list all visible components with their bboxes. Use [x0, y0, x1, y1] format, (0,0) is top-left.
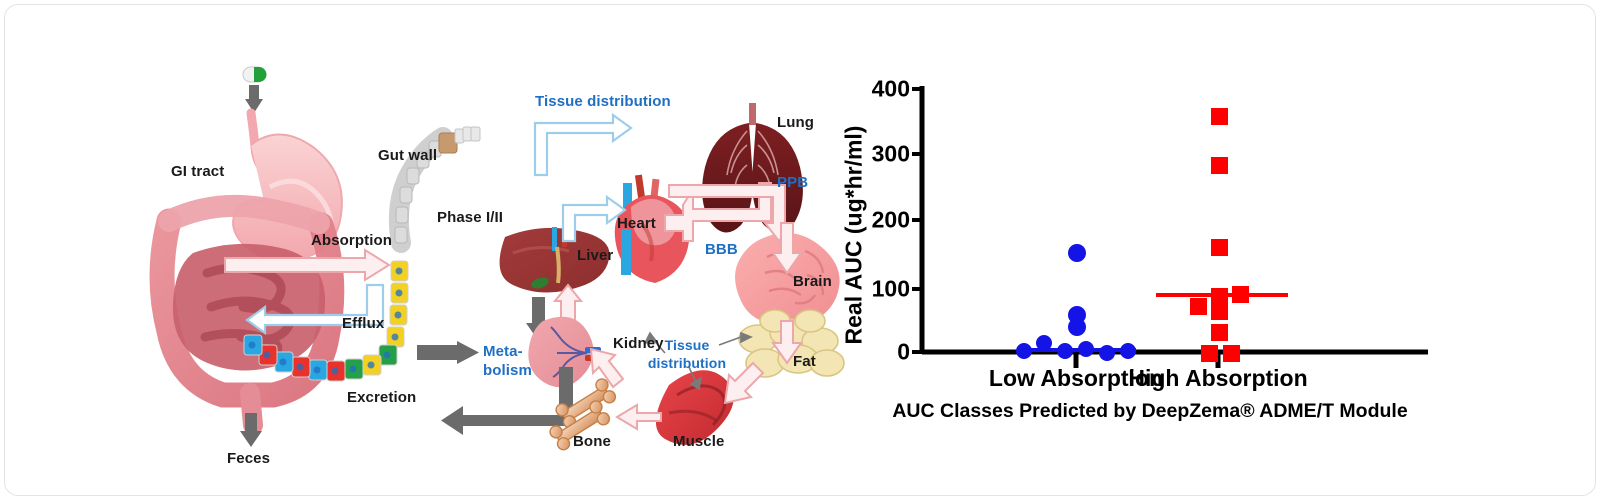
label-lung: Lung — [777, 114, 814, 131]
figure-card: GI tract Gut wall Absorption Efflux Excr… — [4, 4, 1596, 496]
arrow-metabolism — [417, 341, 479, 364]
adme-artwork — [65, 15, 865, 495]
arrow-ingestion — [245, 85, 263, 113]
label-metabolism-line1: Meta- — [483, 343, 523, 360]
label-gut-wall: Gut wall — [378, 147, 437, 164]
label-absorption: Absorption — [311, 232, 392, 249]
data-points-high — [1190, 108, 1249, 362]
label-tissue-distribution-line2: distribution — [648, 355, 726, 371]
data-points-low — [1016, 244, 1136, 361]
label-kidney: Kidney — [613, 335, 664, 352]
label-tissue-distribution-line1: Tissue — [665, 337, 710, 353]
label-fat: Fat — [793, 353, 816, 370]
label-metabolism-line2: bolism — [483, 362, 532, 379]
series-high-absorption — [1156, 108, 1288, 362]
label-brain: Brain — [793, 273, 832, 290]
label-gi-tract: GI tract — [171, 163, 224, 180]
label-excretion: Excretion — [347, 389, 416, 406]
arrow-fat-to-muscle — [725, 363, 763, 403]
label-bone: Bone — [573, 433, 611, 450]
x-axis-title: AUC Classes Predicted by DeepZema® ADME/… — [892, 400, 1407, 423]
label-heart: Heart — [617, 215, 656, 232]
arrow-tissue-distribution-lung — [535, 115, 631, 175]
arrow-muscle-to-bone — [617, 405, 661, 429]
label-ppb: PPB — [777, 174, 808, 191]
label-phase-i-ii: Phase I/II — [437, 209, 503, 226]
label-bbb: BBB — [705, 241, 738, 258]
adme-diagram-panel: GI tract Gut wall Absorption Efflux Excr… — [65, 15, 865, 495]
series-low-absorption — [1016, 244, 1136, 361]
figure-page: GI tract Gut wall Absorption Efflux Excr… — [0, 0, 1602, 502]
drug-capsule-icon — [243, 67, 266, 82]
label-feces: Feces — [227, 450, 270, 467]
auc-scatter-plot-panel: Real AUC (ug*hr/ml) 400 300 200 100 0 — [860, 20, 1480, 480]
label-liver: Liver — [577, 247, 613, 264]
label-efflux: Efflux — [342, 315, 384, 332]
label-muscle: Muscle — [673, 433, 724, 450]
label-tissue-distribution-top: Tissue distribution — [535, 93, 671, 110]
x-group-label-high: High Absorption — [1128, 365, 1307, 392]
